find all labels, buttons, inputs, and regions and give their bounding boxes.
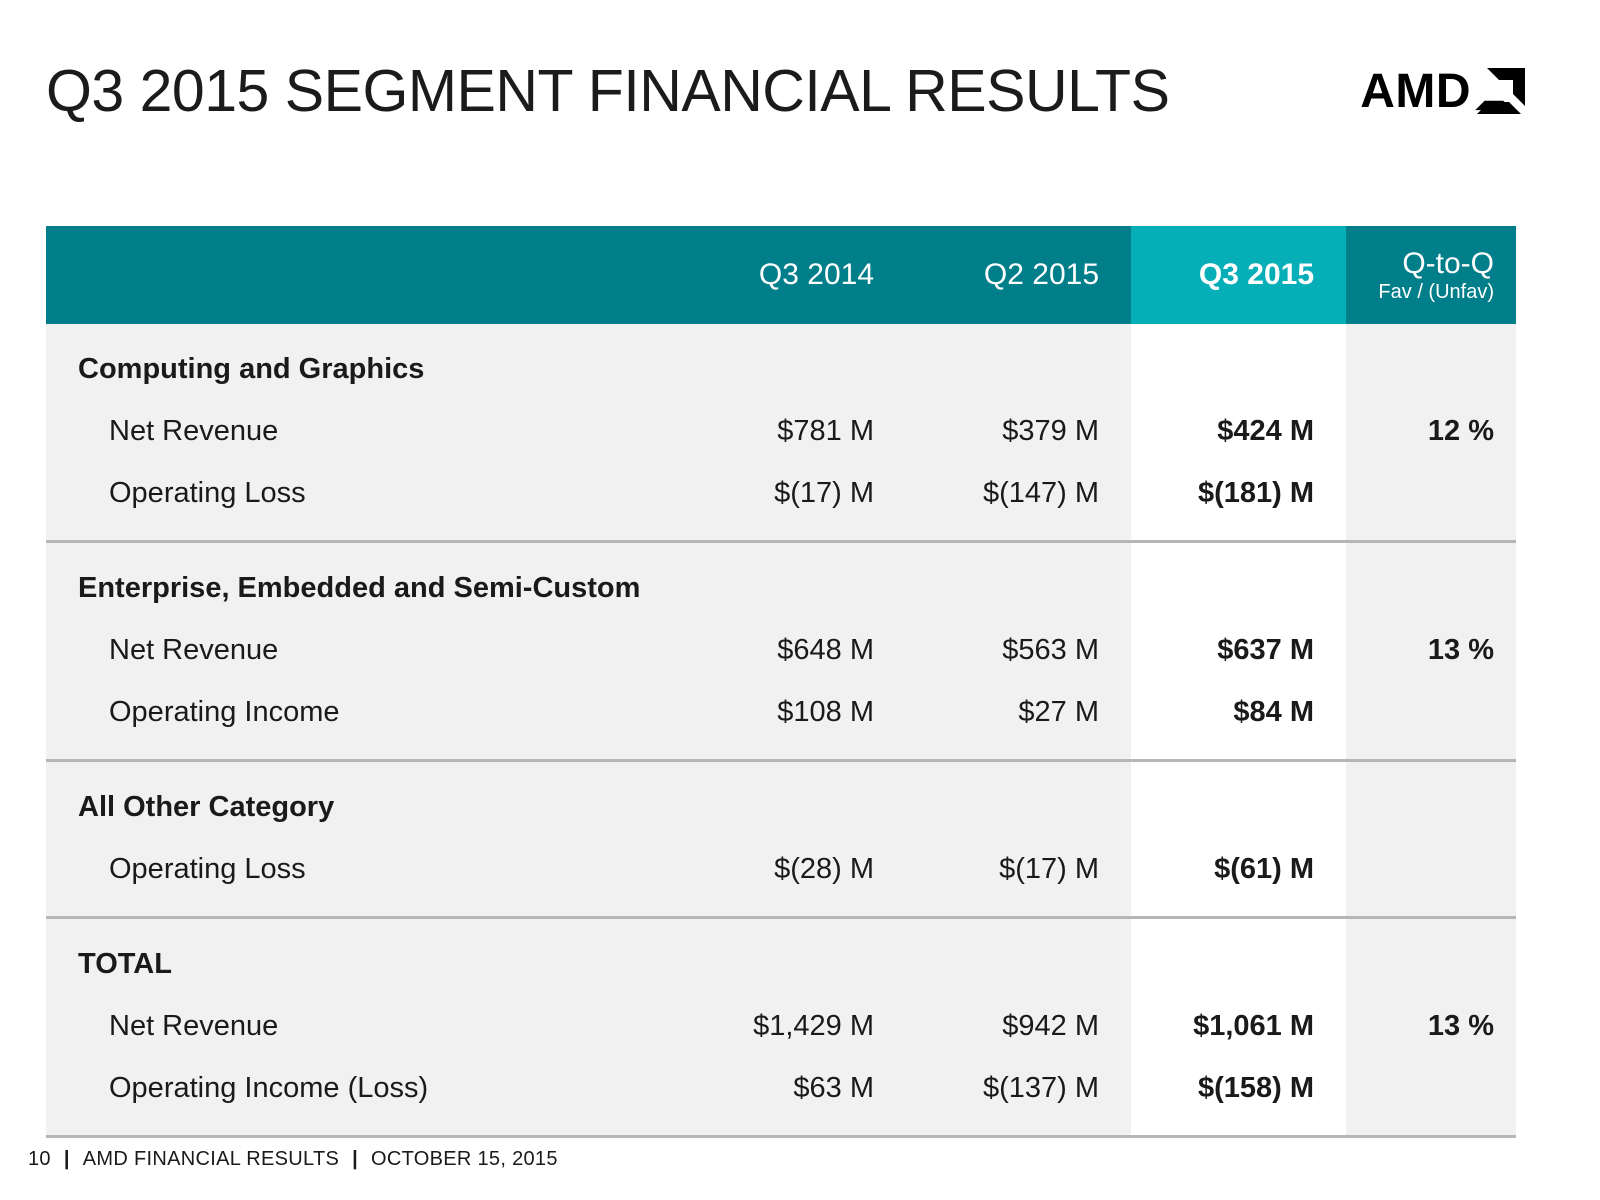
pad-qtoq [1346,324,1516,338]
table-row: Operating Loss $(28) M $(17) M $(61) M [46,838,1516,900]
row-label: Operating Income (Loss) [78,1072,428,1105]
section-title-qtoq [1346,557,1516,619]
row-cell-q2-2015: $(137) M [906,1057,1131,1119]
pad-q32015 [1131,1119,1346,1135]
pad-q22015 [906,919,1131,933]
section-title-q32014 [666,338,906,400]
footer-separator-1: | [61,1148,73,1171]
pad-q22015 [906,324,1131,338]
value-q3-2014: $1,429 M [753,1010,874,1043]
slide-footer: 10 | AMD FINANCIAL RESULTS | OCTOBER 15,… [28,1148,558,1171]
table-section-all-other-category: All Other Category Operating Loss $(28) … [46,762,1516,916]
section-title-q32015 [1131,776,1346,838]
amd-arrow-icon [1475,68,1525,116]
value-q3-2014: $63 M [793,1072,874,1105]
row-cell-q3-2014: $108 M [666,681,906,743]
section-title-q32014 [666,776,906,838]
header-q-to-q-main: Q-to-Q [1402,247,1494,281]
pad-label [46,524,666,540]
value-q3-2014: $648 M [777,634,874,667]
row-cell-q3-2014: $(28) M [666,838,906,900]
section-title-row: Enterprise, Embedded and Semi-Custom [46,557,1516,619]
row-cell-q3-2015: $84 M [1131,681,1346,743]
section-title-row: TOTAL [46,933,1516,995]
section-title-label: Computing and Graphics [78,353,424,386]
value-q3-2015: $424 M [1217,415,1314,448]
pad-q22015 [906,762,1131,776]
row-label: Operating Loss [78,477,306,510]
header-cell-q3-2015: Q3 2015 [1131,226,1346,324]
row-cell-q-to-q [1346,681,1516,743]
row-cell-q-to-q: 13 % [1346,995,1516,1057]
section-title-label: All Other Category [78,791,334,824]
value-q2-2015: $379 M [1002,415,1099,448]
row-cell-q3-2015: $(61) M [1131,838,1346,900]
section-title-q22015 [906,557,1131,619]
row-label: Net Revenue [78,634,278,667]
pad-qtoq [1346,743,1516,759]
row-label-cell: Operating Income [46,681,666,743]
section-title-label: TOTAL [78,948,172,981]
footer-page-number: 10 [28,1148,51,1171]
page-title: Q3 2015 SEGMENT FINANCIAL RESULTS [46,62,1169,121]
pad-q32014 [666,524,906,540]
table-section-enterprise-embedded-semi-custom: Enterprise, Embedded and Semi-Custom Net… [46,543,1516,759]
row-cell-q3-2015: $(181) M [1131,462,1346,524]
footer-separator-2: | [349,1148,361,1171]
table-row: Operating Income $108 M $27 M $84 M [46,681,1516,743]
row-cell-q2-2015: $(147) M [906,462,1131,524]
header-q-to-q-sub: Fav / (Unfav) [1378,281,1494,303]
row-label: Operating Loss [78,853,306,886]
pad-q22015 [906,743,1131,759]
section-title-q22015 [906,338,1131,400]
row-cell-q3-2014: $648 M [666,619,906,681]
section-pad [46,324,1516,338]
section-title-cell: Enterprise, Embedded and Semi-Custom [46,557,666,619]
header-cell-blank [46,226,666,324]
row-cell-q2-2015: $563 M [906,619,1131,681]
row-label: Net Revenue [78,415,278,448]
section-title-q32014 [666,933,906,995]
row-cell-q-to-q [1346,838,1516,900]
section-title-cell: All Other Category [46,776,666,838]
section-pad [46,900,1516,916]
row-label-cell: Net Revenue [46,400,666,462]
section-title-row: Computing and Graphics [46,338,1516,400]
amd-logo: AMD [1360,68,1525,116]
pad-qtoq [1346,1119,1516,1135]
pad-label [46,743,666,759]
row-label-cell: Operating Loss [46,838,666,900]
row-label: Operating Income [78,696,340,729]
row-cell-q3-2015: $(158) M [1131,1057,1346,1119]
row-cell-q2-2015: $27 M [906,681,1131,743]
row-cell-q-to-q: 13 % [1346,619,1516,681]
section-title-q32015 [1131,338,1346,400]
row-cell-q3-2014: $781 M [666,400,906,462]
value-q3-2015: $84 M [1233,696,1314,729]
value-q3-2015: $(61) M [1214,853,1314,886]
value-q3-2014: $781 M [777,415,874,448]
pad-q32014 [666,762,906,776]
pad-q32014 [666,324,906,338]
table-row: Operating Loss $(17) M $(147) M $(181) M [46,462,1516,524]
section-pad [46,1119,1516,1135]
table-row: Net Revenue $781 M $379 M $424 M 12 % [46,400,1516,462]
table-header-row: Q3 2014 Q2 2015 Q3 2015 Q-to-Q Fav / (Un… [46,226,1516,324]
value-q2-2015: $942 M [1002,1010,1099,1043]
pad-q32014 [666,743,906,759]
pad-q32015 [1131,324,1346,338]
section-pad [46,524,1516,540]
section-pad [46,919,1516,933]
slide-header: Q3 2015 SEGMENT FINANCIAL RESULTS AMD [0,0,1600,170]
section-title-qtoq [1346,776,1516,838]
value-q-to-q: 13 % [1428,634,1494,667]
row-cell-q3-2014: $1,429 M [666,995,906,1057]
value-q3-2015: $637 M [1217,634,1314,667]
pad-qtoq [1346,524,1516,540]
table-body: Computing and Graphics Net Revenue $781 … [46,324,1516,1135]
pad-label [46,900,666,916]
section-title-q32015 [1131,557,1346,619]
table-bottom-rule [46,1135,1516,1138]
value-q2-2015: $(137) M [983,1072,1099,1105]
pad-q32015 [1131,900,1346,916]
value-q2-2015: $27 M [1018,696,1099,729]
value-q-to-q: 13 % [1428,1010,1494,1043]
row-cell-q2-2015: $(17) M [906,838,1131,900]
section-title-row: All Other Category [46,776,1516,838]
pad-q32014 [666,543,906,557]
pad-q22015 [906,1119,1131,1135]
pad-q32014 [666,919,906,933]
pad-q32015 [1131,543,1346,557]
value-q3-2015: $1,061 M [1193,1010,1314,1043]
row-cell-q3-2015: $637 M [1131,619,1346,681]
row-cell-q-to-q: 12 % [1346,400,1516,462]
header-cell-q-to-q: Q-to-Q Fav / (Unfav) [1346,226,1516,324]
pad-qtoq [1346,919,1516,933]
section-pad [46,543,1516,557]
row-cell-q3-2015: $1,061 M [1131,995,1346,1057]
pad-q32014 [666,900,906,916]
section-pad [46,743,1516,759]
amd-wordmark: AMD [1360,68,1471,116]
section-title-q22015 [906,933,1131,995]
pad-q22015 [906,524,1131,540]
row-cell-q3-2014: $63 M [666,1057,906,1119]
section-title-label: Enterprise, Embedded and Semi-Custom [78,572,640,605]
value-q3-2014: $(17) M [774,477,874,510]
pad-q32014 [666,1119,906,1135]
value-q3-2015: $(158) M [1198,1072,1314,1105]
row-label-cell: Operating Income (Loss) [46,1057,666,1119]
table-section-total: TOTAL Net Revenue $1,429 M $942 M $1,061… [46,919,1516,1135]
row-label-cell: Net Revenue [46,995,666,1057]
value-q3-2015: $(181) M [1198,477,1314,510]
value-q3-2014: $108 M [777,696,874,729]
row-label: Net Revenue [78,1010,278,1043]
section-title-cell: TOTAL [46,933,666,995]
pad-q32015 [1131,524,1346,540]
table-section-computing-and-graphics: Computing and Graphics Net Revenue $781 … [46,324,1516,540]
pad-q32015 [1131,743,1346,759]
row-cell-q2-2015: $942 M [906,995,1131,1057]
row-label-cell: Operating Loss [46,462,666,524]
section-title-q32014 [666,557,906,619]
header-cell-q2-2015: Q2 2015 [906,226,1131,324]
pad-qtoq [1346,762,1516,776]
value-q-to-q: 12 % [1428,415,1494,448]
pad-label [46,324,666,338]
section-title-q22015 [906,776,1131,838]
value-q2-2015: $(17) M [999,853,1099,886]
row-cell-q3-2015: $424 M [1131,400,1346,462]
section-pad [46,762,1516,776]
section-title-qtoq [1346,338,1516,400]
pad-q22015 [906,543,1131,557]
pad-label [46,543,666,557]
table-row: Operating Income (Loss) $63 M $(137) M $… [46,1057,1516,1119]
row-cell-q-to-q [1346,462,1516,524]
row-cell-q-to-q [1346,1057,1516,1119]
row-cell-q3-2014: $(17) M [666,462,906,524]
pad-label [46,919,666,933]
pad-q22015 [906,900,1131,916]
value-q2-2015: $563 M [1002,634,1099,667]
value-q3-2014: $(28) M [774,853,874,886]
header-cell-q3-2014: Q3 2014 [666,226,906,324]
pad-q32015 [1131,762,1346,776]
pad-label [46,762,666,776]
section-title-cell: Computing and Graphics [46,338,666,400]
pad-qtoq [1346,900,1516,916]
pad-qtoq [1346,543,1516,557]
pad-q32015 [1131,919,1346,933]
row-label-cell: Net Revenue [46,619,666,681]
row-cell-q2-2015: $379 M [906,400,1131,462]
segment-financial-table: Q3 2014 Q2 2015 Q3 2015 Q-to-Q Fav / (Un… [46,226,1516,1138]
footer-deck-name: AMD FINANCIAL RESULTS [83,1148,339,1171]
section-title-qtoq [1346,933,1516,995]
pad-label [46,1119,666,1135]
table-row: Net Revenue $1,429 M $942 M $1,061 M 13 … [46,995,1516,1057]
value-q2-2015: $(147) M [983,477,1099,510]
section-title-q32015 [1131,933,1346,995]
footer-date: OCTOBER 15, 2015 [371,1148,558,1171]
table-row: Net Revenue $648 M $563 M $637 M 13 % [46,619,1516,681]
